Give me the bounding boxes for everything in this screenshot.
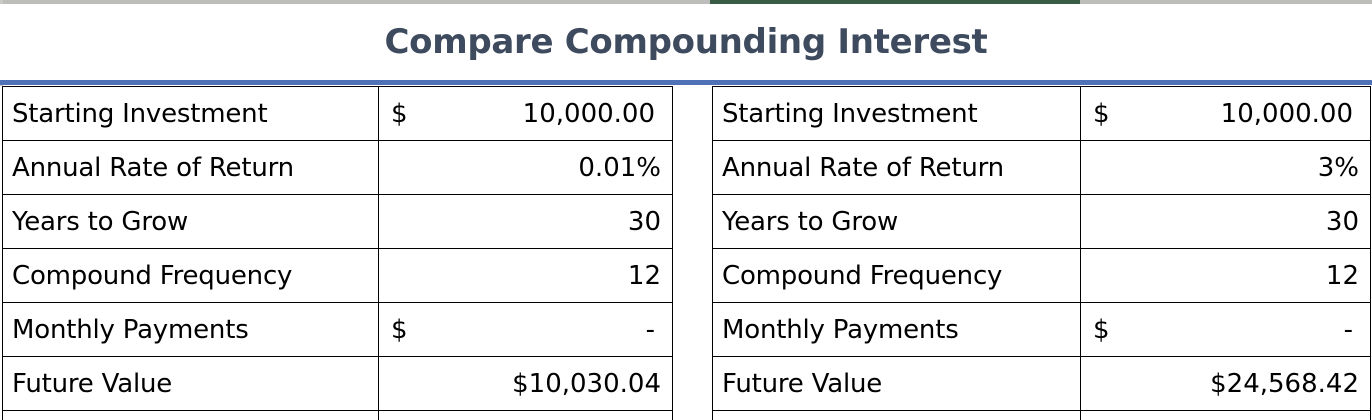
table-row-partial	[3, 411, 673, 420]
row-value-cell[interactable]: $24,568.42	[1081, 357, 1371, 411]
table-row: Annual Rate of Return3%	[713, 141, 1371, 195]
row-label-cell[interactable]: Years to Grow	[3, 195, 379, 249]
cell-value: 12	[1326, 261, 1361, 291]
row-value-cell[interactable]: 12	[379, 249, 673, 303]
row-value-cell[interactable]: 3%	[1081, 141, 1371, 195]
row-label-cell[interactable]: Future Value	[3, 357, 379, 411]
row-label-cell[interactable]: Compound Frequency	[3, 249, 379, 303]
row-value-cell[interactable]: $10,000.00	[379, 87, 673, 141]
table-row: Monthly Payments$-	[3, 303, 673, 357]
cell-value: -	[1344, 315, 1361, 345]
title-underline-rule	[0, 80, 1372, 85]
cell-value: 0.01%	[578, 153, 663, 183]
cell-value: $10,030.04	[512, 369, 663, 399]
table-row: Future Value$10,030.04	[3, 357, 673, 411]
row-label-cell[interactable]: Future Value	[713, 357, 1081, 411]
table-row: Compound Frequency12	[713, 249, 1371, 303]
scenario-table-left: Starting Investment$10,000.00Annual Rate…	[2, 86, 673, 420]
table-row: Years to Grow30	[3, 195, 673, 249]
scenario-table-right: Starting Investment$10,000.00Annual Rate…	[712, 86, 1371, 420]
table-row: Years to Grow30	[713, 195, 1371, 249]
cell-value: $24,568.42	[1210, 369, 1361, 399]
row-label-cell[interactable]: Monthly Payments	[3, 303, 379, 357]
scenario-panel-left: Starting Investment$10,000.00Annual Rate…	[2, 86, 672, 420]
row-value-cell[interactable]: $-	[379, 303, 673, 357]
table-row: Starting Investment$10,000.00	[3, 87, 673, 141]
row-label-cell[interactable]	[3, 411, 379, 420]
row-value-cell[interactable]: $10,000.00	[1081, 87, 1371, 141]
cell-value: 12	[628, 261, 663, 291]
row-label-cell[interactable]: Annual Rate of Return	[3, 141, 379, 195]
cell-value: 3%	[1318, 153, 1361, 183]
table-body-right: Starting Investment$10,000.00Annual Rate…	[713, 87, 1371, 420]
row-label-cell[interactable]: Years to Grow	[713, 195, 1081, 249]
row-value-cell[interactable]: $-	[1081, 303, 1371, 357]
table-row: Compound Frequency12	[3, 249, 673, 303]
row-value-cell[interactable]: 30	[1081, 195, 1371, 249]
cell-value: 10,000.00	[1221, 99, 1361, 129]
page-title: Compare Compounding Interest	[0, 22, 1372, 62]
table-row: Annual Rate of Return0.01%	[3, 141, 673, 195]
row-label-cell[interactable]	[713, 411, 1081, 420]
row-value-cell[interactable]: 12	[1081, 249, 1371, 303]
row-value-cell[interactable]: 30	[379, 195, 673, 249]
cell-value: 30	[1326, 207, 1361, 237]
row-label-cell[interactable]: Annual Rate of Return	[713, 141, 1081, 195]
table-row-partial	[713, 411, 1371, 420]
currency-symbol: $	[391, 99, 408, 129]
currency-symbol: $	[1093, 99, 1110, 129]
row-label-cell[interactable]: Starting Investment	[3, 87, 379, 141]
currency-symbol: $	[391, 315, 408, 345]
cell-value: 30	[628, 207, 663, 237]
spreadsheet-screenshot: Compare Compounding Interest Starting In…	[0, 0, 1372, 420]
table-row: Future Value$24,568.42	[713, 357, 1371, 411]
currency-symbol: $	[1093, 315, 1110, 345]
row-value-cell[interactable]: 0.01%	[379, 141, 673, 195]
row-label-cell[interactable]: Monthly Payments	[713, 303, 1081, 357]
cell-value: -	[646, 315, 663, 345]
table-row: Monthly Payments$-	[713, 303, 1371, 357]
table-row: Starting Investment$10,000.00	[713, 87, 1371, 141]
row-value-cell[interactable]	[379, 411, 673, 420]
scenario-panel-right: Starting Investment$10,000.00Annual Rate…	[712, 86, 1370, 420]
row-label-cell[interactable]: Starting Investment	[713, 87, 1081, 141]
table-body-left: Starting Investment$10,000.00Annual Rate…	[3, 87, 673, 420]
row-value-cell[interactable]	[1081, 411, 1371, 420]
cell-value: 10,000.00	[523, 99, 663, 129]
row-label-cell[interactable]: Compound Frequency	[713, 249, 1081, 303]
row-value-cell[interactable]: $10,030.04	[379, 357, 673, 411]
title-band: Compare Compounding Interest	[0, 4, 1372, 81]
